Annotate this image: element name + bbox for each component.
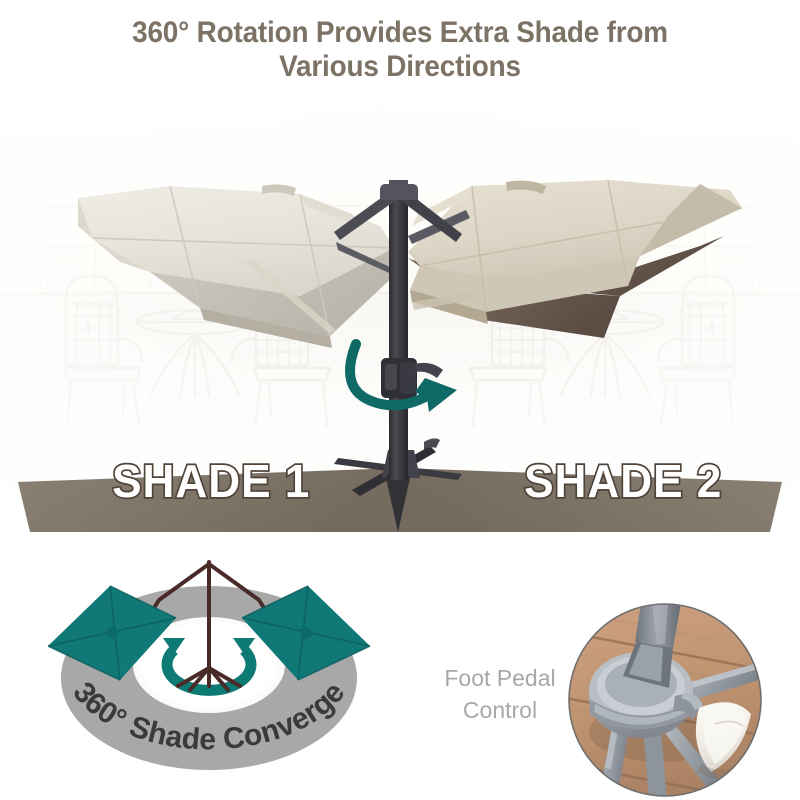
foot-pedal-photo bbox=[565, 600, 765, 800]
foot-pedal-label-line-1: Foot Pedal bbox=[420, 662, 580, 694]
page-title-line-2: Various Directions bbox=[28, 50, 772, 84]
foot-pedal bbox=[696, 702, 751, 772]
product-feature-image: 360° Rotation Provides Extra Shade from … bbox=[0, 0, 800, 800]
foot-pedal-label-line-2: Control bbox=[420, 694, 580, 726]
page-title-line-1: 360° Rotation Provides Extra Shade from bbox=[132, 16, 668, 49]
page-title: 360° Rotation Provides Extra Shade from … bbox=[28, 16, 772, 84]
shade-converge-diagram: 360° Shade Converge bbox=[18, 540, 396, 792]
foot-pedal-label: Foot Pedal Control bbox=[420, 662, 580, 726]
shade-label-2: SHADE 2 bbox=[524, 458, 722, 504]
shade-label-1: SHADE 1 bbox=[112, 458, 310, 504]
